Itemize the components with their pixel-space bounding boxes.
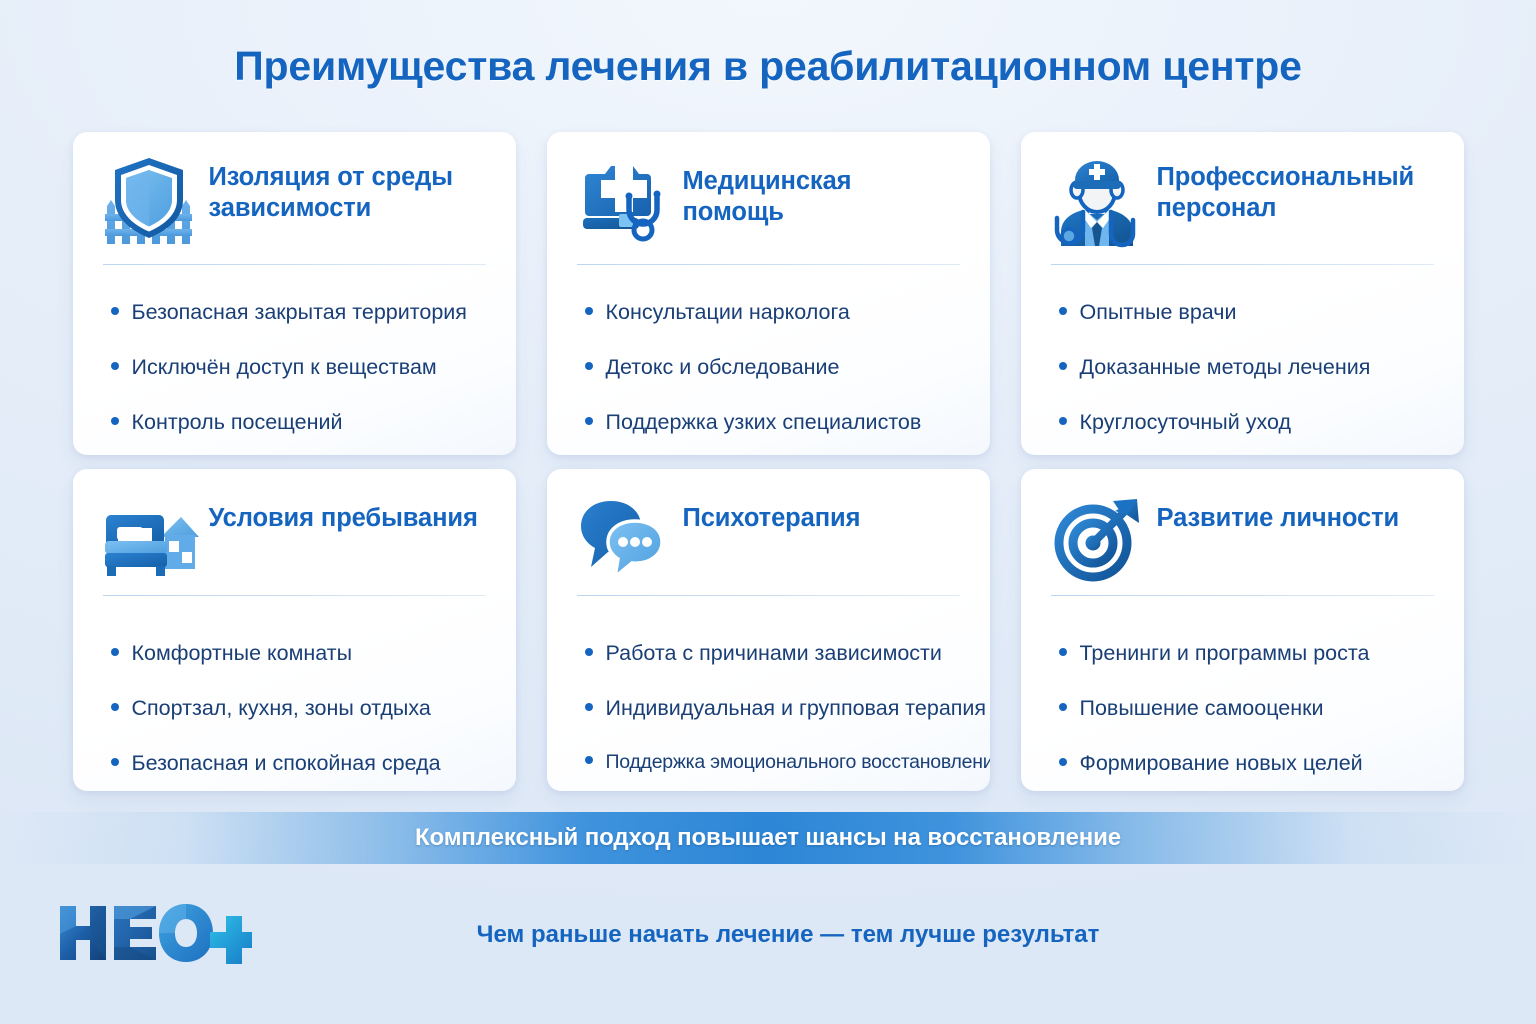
- bullet-text: Исключён доступ к веществам: [132, 354, 437, 381]
- bullet-text: Повышение самооценки: [1080, 695, 1324, 722]
- benefits-grid: Изоляция от среды зависимости Безопасная…: [0, 132, 1536, 791]
- list-item: Тренинги и программы роста: [1059, 640, 1434, 667]
- list-item: Контроль посещений: [111, 409, 486, 436]
- list-item: Круглосуточный уход: [1059, 409, 1434, 436]
- list-item: Поддержка эмоционального восстановления: [585, 750, 960, 774]
- bullet-dot: [111, 417, 119, 425]
- bullet-dot: [585, 756, 593, 764]
- card-header: Условия пребывания: [103, 495, 486, 591]
- bullet-dot: [111, 758, 119, 766]
- list-item: Комфортные комнаты: [111, 640, 486, 667]
- footer-banner: Комплексный подход повышает шансы на вос…: [0, 812, 1536, 864]
- footer-row: Чем раньше начать лечение — тем лучше ре…: [0, 904, 1536, 966]
- card-bullet-list: Работа с причинами зависимости Индивидуа…: [577, 640, 960, 774]
- card-title: Профессиональный персонал: [1157, 158, 1434, 224]
- bullet-text: Комфортные комнаты: [132, 640, 353, 667]
- medical-kit-stethoscope-icon: [577, 156, 669, 248]
- card-title: Изоляция от среды зависимости: [209, 158, 486, 224]
- card-divider: [103, 595, 486, 596]
- list-item: Исключён доступ к веществам: [111, 354, 486, 381]
- card-bullet-list: Консультации нарколога Детокс и обследов…: [577, 299, 960, 436]
- bullet-text: Круглосуточный уход: [1080, 409, 1292, 436]
- list-item: Работа с причинами зависимости: [585, 640, 960, 667]
- bullet-text: Поддержка узких специалистов: [606, 409, 922, 436]
- card-bullet-list: Тренинги и программы роста Повышение сам…: [1051, 640, 1434, 777]
- list-item: Спортзал, кухня, зоны отдыха: [111, 695, 486, 722]
- bullet-text: Индивидуальная и групповая терапия: [606, 695, 987, 722]
- list-item: Безопасная и спокойная среда: [111, 750, 486, 777]
- bullet-text: Консультации нарколога: [606, 299, 850, 326]
- card-title: Психотерапия: [683, 495, 861, 534]
- list-item: Повышение самооценки: [1059, 695, 1434, 722]
- bullet-dot: [111, 648, 119, 656]
- benefit-card-isolation[interactable]: Изоляция от среды зависимости Безопасная…: [73, 132, 516, 455]
- card-title: Условия пребывания: [209, 495, 478, 534]
- list-item: Консультации нарколога: [585, 299, 960, 326]
- list-item: Поддержка узких специалистов: [585, 409, 960, 436]
- bullet-dot: [585, 417, 593, 425]
- speech-bubbles-icon: [577, 493, 669, 585]
- card-divider: [1051, 595, 1434, 596]
- bullet-dot: [1059, 758, 1067, 766]
- bullet-text: Поддержка эмоционального восстановления: [606, 750, 990, 774]
- bullet-dot: [585, 648, 593, 656]
- bullet-dot: [111, 362, 119, 370]
- list-item: Доказанные методы лечения: [1059, 354, 1434, 381]
- page-title: Преимущества лечения в реабилитационном …: [234, 43, 1302, 90]
- card-header: Профессиональный персонал: [1051, 158, 1434, 254]
- bullet-dot: [1059, 362, 1067, 370]
- benefit-card-accommodation[interactable]: Условия пребывания Комфортные комнаты Сп…: [73, 469, 516, 791]
- bullet-dot: [585, 362, 593, 370]
- list-item: Индивидуальная и групповая терапия: [585, 695, 960, 722]
- infographic-page: Преимущества лечения в реабилитационном …: [0, 0, 1536, 1024]
- card-bullet-list: Комфортные комнаты Спортзал, кухня, зоны…: [103, 640, 486, 777]
- benefit-card-psychotherapy[interactable]: Психотерапия Работа с причинами зависимо…: [547, 469, 990, 791]
- bullet-text: Опытные врачи: [1080, 299, 1237, 326]
- neo-plus-logo[interactable]: [56, 900, 252, 966]
- bullet-text: Детокс и обследование: [606, 354, 840, 381]
- card-divider: [577, 595, 960, 596]
- card-divider: [577, 264, 960, 265]
- page-footer: Комплексный подход повышает шансы на вос…: [0, 812, 1536, 1024]
- bullet-text: Контроль посещений: [132, 409, 343, 436]
- bullet-dot: [585, 307, 593, 315]
- bullet-text: Формирование новых целей: [1080, 750, 1363, 777]
- list-item: Безопасная закрытая территория: [111, 299, 486, 326]
- card-header: Психотерапия: [577, 495, 960, 591]
- card-header: Развитие личности: [1051, 495, 1434, 591]
- card-header: Медицинская помощь: [577, 158, 960, 254]
- card-bullet-list: Опытные врачи Доказанные методы лечения …: [1051, 299, 1434, 436]
- bed-house-icon: [103, 493, 195, 585]
- bullet-text: Доказанные методы лечения: [1080, 354, 1371, 381]
- shield-fence-icon: [103, 156, 195, 248]
- list-item: Формирование новых целей: [1059, 750, 1434, 777]
- benefit-card-personal-growth[interactable]: Развитие личности Тренинги и программы р…: [1021, 469, 1464, 791]
- bullet-dot: [1059, 417, 1067, 425]
- bullet-text: Безопасная и спокойная среда: [132, 750, 441, 777]
- bullet-dot: [1059, 703, 1067, 711]
- card-title: Медицинская помощь: [683, 158, 960, 228]
- bullet-text: Работа с причинами зависимости: [606, 640, 942, 667]
- bullet-dot: [585, 703, 593, 711]
- doctor-icon: [1051, 156, 1143, 248]
- card-divider: [103, 264, 486, 265]
- bullet-text: Тренинги и программы роста: [1080, 640, 1370, 667]
- footer-banner-text: Комплексный подход повышает шансы на вос…: [415, 824, 1121, 852]
- bullet-dot: [1059, 648, 1067, 656]
- card-header: Изоляция от среды зависимости: [103, 158, 486, 254]
- bullet-dot: [111, 703, 119, 711]
- card-divider: [1051, 264, 1434, 265]
- target-arrow-icon: [1051, 493, 1143, 585]
- card-title: Развитие личности: [1157, 495, 1400, 534]
- benefit-card-staff[interactable]: Профессиональный персонал Опытные врачи …: [1021, 132, 1464, 455]
- bullet-text: Безопасная закрытая территория: [132, 299, 467, 326]
- page-header: Преимущества лечения в реабилитационном …: [0, 0, 1536, 132]
- bullet-dot: [111, 307, 119, 315]
- bullet-dot: [1059, 307, 1067, 315]
- list-item: Детокс и обследование: [585, 354, 960, 381]
- list-item: Опытные врачи: [1059, 299, 1434, 326]
- card-bullet-list: Безопасная закрытая территория Исключён …: [103, 299, 486, 436]
- bullet-text: Спортзал, кухня, зоны отдыха: [132, 695, 431, 722]
- benefit-card-medical[interactable]: Медицинская помощь Консультации нарколог…: [547, 132, 990, 455]
